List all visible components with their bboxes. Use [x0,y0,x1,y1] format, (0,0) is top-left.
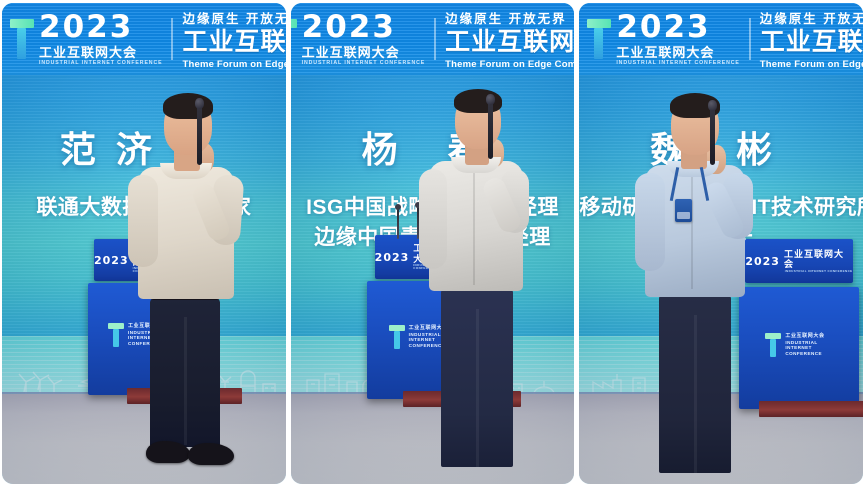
t-logo-icon [389,325,405,349]
logo-org-en: INDUSTRIAL INTERNET CONFERENCE [302,61,425,66]
handheld-microphone-icon [197,105,202,165]
speaker-figure-2 [411,3,575,484]
speaker-arm-left [635,173,665,271]
t-logo-icon [587,19,611,59]
conference-logo: 2023 工业互联网大会 INDUSTRIAL INTERNET CONFERE… [291,12,425,66]
speaker-badge [675,199,692,222]
logo-org-cn: 工业互联网大会 [302,46,425,59]
speaker-shoe-right [188,443,234,465]
handheld-microphone-icon [488,101,493,159]
speaker-figure-1 [122,3,286,484]
t-logo-icon [10,19,34,59]
podium-year: 2023 [375,251,410,264]
podium-microphone-icon [397,209,399,239]
handheld-microphone-icon [710,107,715,165]
t-logo-icon [291,19,297,59]
photo-panel-3[interactable]: 2023 工业互联网大会 INDUSTRIAL INTERNET CONFERE… [579,3,863,484]
speaker-figure-3 [631,3,811,484]
speaker-hair [163,93,213,119]
speaker-arm-left [128,175,158,267]
photo-panel-1[interactable]: 2023 工业互联网大会 INDUSTRIAL INTERNET CONFERE… [2,3,286,484]
speaker-arm-left [419,169,447,269]
speaker-photo-collage: 2023 工业互联网大会 INDUSTRIAL INTERNET CONFERE… [0,0,865,487]
logo-year: 2023 [302,12,425,43]
photo-panel-2[interactable]: 2023 工业互联网大会 INDUSTRIAL INTERNET CONFERE… [291,3,575,484]
speaker-shoe-left [146,441,190,463]
